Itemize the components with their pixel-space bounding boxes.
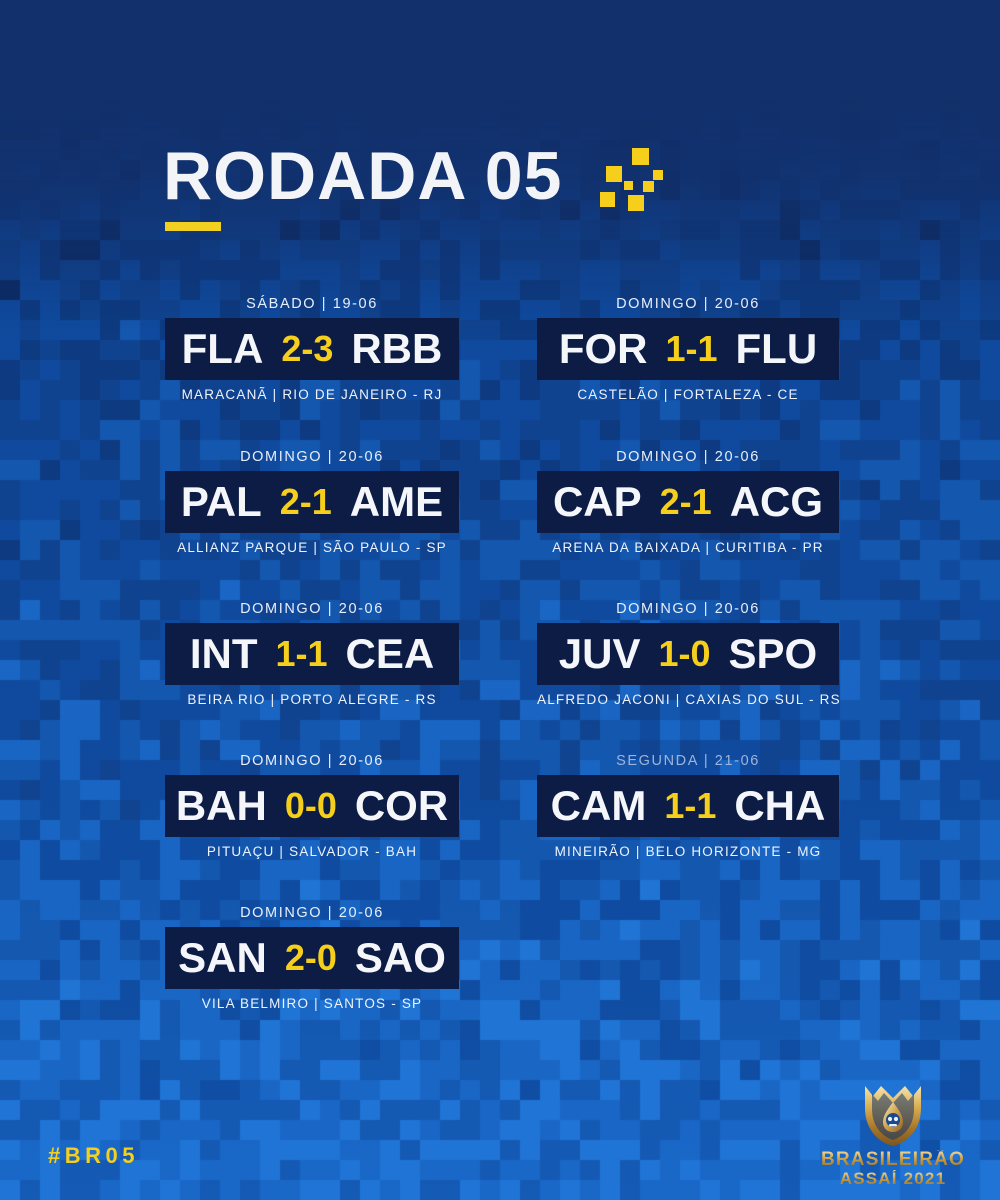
away-team-abbr: CEA bbox=[346, 633, 435, 675]
match-venue: MINEIRÃO | BELO HORIZONTE - MG bbox=[537, 844, 839, 859]
home-team-abbr: CAM bbox=[551, 785, 647, 827]
match-date: DOMINGO | 20-06 bbox=[165, 601, 459, 617]
match-score: 2-3 bbox=[281, 331, 333, 367]
hashtag-label: #BR05 bbox=[48, 1143, 139, 1169]
match-card[interactable]: DOMINGO | 20-06FOR1-1FLUCASTELÃO | FORTA… bbox=[537, 296, 839, 402]
decor-dot-4 bbox=[643, 181, 654, 192]
trophy-icon bbox=[851, 1082, 935, 1148]
match-venue: ARENA DA BAIXADA | CURITIBA - PR bbox=[537, 540, 839, 555]
home-team-abbr: SAN bbox=[178, 937, 267, 979]
home-team-abbr: PAL bbox=[181, 481, 262, 523]
match-venue: CASTELÃO | FORTALEZA - CE bbox=[537, 387, 839, 402]
match-score: 2-1 bbox=[280, 484, 332, 520]
match-card[interactable]: DOMINGO | 20-06CAP2-1ACGARENA DA BAIXADA… bbox=[537, 449, 839, 555]
home-team-abbr: JUV bbox=[559, 633, 641, 675]
away-team-abbr: ACG bbox=[730, 481, 823, 523]
away-team-abbr: COR bbox=[355, 785, 448, 827]
away-team-abbr: FLU bbox=[736, 328, 818, 370]
match-date: DOMINGO | 20-06 bbox=[537, 601, 839, 617]
match-date: DOMINGO | 20-06 bbox=[165, 753, 459, 769]
match-venue: ALLIANZ PARQUE | SÃO PAULO - SP bbox=[165, 540, 459, 555]
score-box[interactable]: SAN2-0SAO bbox=[165, 927, 459, 989]
decor-dot-5 bbox=[600, 192, 615, 207]
score-box[interactable]: PAL2-1AME bbox=[165, 471, 459, 533]
match-score: 2-1 bbox=[660, 484, 712, 520]
home-team-abbr: BAH bbox=[176, 785, 267, 827]
match-venue: MARACANÃ | RIO DE JANEIRO - RJ bbox=[165, 387, 459, 402]
match-score: 0-0 bbox=[285, 788, 337, 824]
match-card[interactable]: DOMINGO | 20-06INT1-1CEABEIRA RIO | PORT… bbox=[165, 601, 459, 707]
decor-dot-0 bbox=[632, 148, 649, 165]
match-date: DOMINGO | 20-06 bbox=[165, 905, 459, 921]
match-venue: VILA BELMIRO | SANTOS - SP bbox=[165, 996, 459, 1011]
decor-dot-3 bbox=[624, 181, 633, 190]
decor-dot-2 bbox=[653, 170, 663, 180]
away-team-abbr: RBB bbox=[351, 328, 442, 370]
match-score: 1-1 bbox=[665, 331, 717, 367]
match-score: 2-0 bbox=[285, 940, 337, 976]
brand-line-2: ASSAÍ 2021 bbox=[818, 1170, 968, 1189]
brasileirao-logo: BRASILEIRÃO ASSAÍ 2021 bbox=[818, 1082, 968, 1189]
match-date: SEGUNDA | 21-06 bbox=[537, 753, 839, 769]
home-team-abbr: CAP bbox=[553, 481, 642, 523]
header: RODADA 05 bbox=[163, 142, 562, 210]
match-card[interactable]: SÁBADO | 19-06FLA2-3RBBMARACANÃ | RIO DE… bbox=[165, 296, 459, 402]
away-team-abbr: SPO bbox=[729, 633, 818, 675]
away-team-abbr: CHA bbox=[734, 785, 825, 827]
match-date: DOMINGO | 20-06 bbox=[537, 449, 839, 465]
away-team-abbr: SAO bbox=[355, 937, 446, 979]
title-underline-accent bbox=[165, 222, 221, 231]
match-card[interactable]: SEGUNDA | 21-06CAM1-1CHAMINEIRÃO | BELO … bbox=[537, 753, 839, 859]
score-box[interactable]: FOR1-1FLU bbox=[537, 318, 839, 380]
brand-line-1: BRASILEIRÃO bbox=[818, 1150, 968, 1170]
away-team-abbr: AME bbox=[350, 481, 443, 523]
match-card[interactable]: DOMINGO | 20-06BAH0-0CORPITUAÇU | SALVAD… bbox=[165, 753, 459, 859]
match-score: 1-0 bbox=[658, 636, 710, 672]
round-results-graphic: RODADA 05 SÁBADO | 19-06FLA2-3RBBMARACAN… bbox=[0, 0, 1000, 1200]
home-team-abbr: FOR bbox=[559, 328, 648, 370]
home-team-abbr: FLA bbox=[182, 328, 264, 370]
match-card[interactable]: DOMINGO | 20-06SAN2-0SAOVILA BELMIRO | S… bbox=[165, 905, 459, 1011]
score-box[interactable]: JUV1-0SPO bbox=[537, 623, 839, 685]
match-score: 1-1 bbox=[664, 788, 716, 824]
match-date: SÁBADO | 19-06 bbox=[165, 296, 459, 312]
match-score: 1-1 bbox=[275, 636, 327, 672]
score-box[interactable]: FLA2-3RBB bbox=[165, 318, 459, 380]
match-date: DOMINGO | 20-06 bbox=[165, 449, 459, 465]
match-date: DOMINGO | 20-06 bbox=[537, 296, 839, 312]
match-card[interactable]: DOMINGO | 20-06JUV1-0SPOALFREDO JACONI |… bbox=[537, 601, 839, 707]
decor-dot-6 bbox=[628, 195, 644, 211]
home-team-abbr: INT bbox=[190, 633, 258, 675]
match-venue: PITUAÇU | SALVADOR - BAH bbox=[165, 844, 459, 859]
score-box[interactable]: CAP2-1ACG bbox=[537, 471, 839, 533]
match-venue: ALFREDO JACONI | CAXIAS DO SUL - RS bbox=[537, 692, 839, 707]
score-box[interactable]: INT1-1CEA bbox=[165, 623, 459, 685]
match-venue: BEIRA RIO | PORTO ALEGRE - RS bbox=[165, 692, 459, 707]
decor-dot-1 bbox=[606, 166, 622, 182]
page-title: RODADA 05 bbox=[163, 142, 562, 210]
score-box[interactable]: CAM1-1CHA bbox=[537, 775, 839, 837]
decorative-dots-icon bbox=[600, 148, 670, 210]
score-box[interactable]: BAH0-0COR bbox=[165, 775, 459, 837]
match-card[interactable]: DOMINGO | 20-06PAL2-1AMEALLIANZ PARQUE |… bbox=[165, 449, 459, 555]
